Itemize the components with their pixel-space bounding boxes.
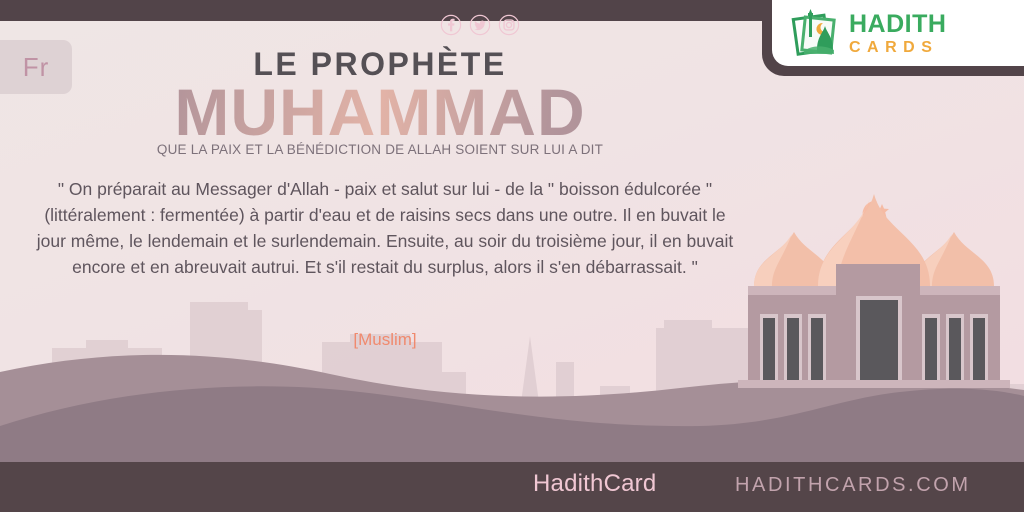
logo-wordmark: HADITH CARDS [849, 12, 946, 56]
mosque-photo-card-icon [790, 9, 842, 59]
page-title: MUHAMMAD [0, 78, 760, 147]
instagram-icon[interactable] [498, 14, 520, 36]
twitter-icon[interactable] [469, 14, 491, 36]
social-handle[interactable]: HadithCard [533, 470, 656, 498]
hadith-text: " On préparait au Messager d'Allah - pai… [30, 176, 740, 280]
website-url[interactable]: HADITHCARDS.COM [735, 474, 971, 497]
hadith-source: [Muslim] [30, 330, 740, 350]
logo-primary-text: HADITH [849, 12, 946, 37]
mosque-illustration [724, 168, 1024, 426]
title-subtitle: QUE LA PAIX ET LA BÉNÉDICTION DE ALLAH S… [0, 142, 760, 157]
social-links [440, 14, 520, 36]
hadith-card: HADITH CARDS Fr LE PROPHÈTE MUHAMMAD QUE… [0, 0, 1024, 512]
logo-secondary-text: CARDS [849, 40, 946, 56]
facebook-icon[interactable] [440, 14, 462, 36]
brand-logo[interactable]: HADITH CARDS [790, 6, 980, 62]
